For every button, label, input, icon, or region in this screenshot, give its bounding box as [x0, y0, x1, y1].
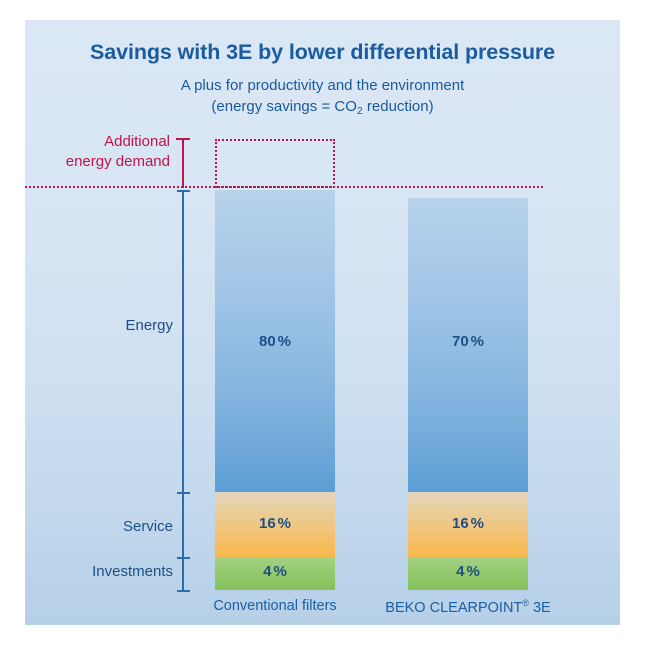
- additional-energy-demand-line2: energy demand: [66, 152, 170, 172]
- value-energy-right: 70: [452, 333, 469, 350]
- axis-label-energy: Energy: [125, 317, 173, 334]
- axis-tick-top: [177, 190, 190, 192]
- value-service-right: 16: [452, 515, 469, 532]
- plot-area: Additional energy demand Energy Service …: [25, 20, 620, 625]
- additional-energy-demand-box: [215, 139, 335, 188]
- percent-sign: %: [467, 563, 480, 580]
- value-label-energy-right: 70%: [408, 333, 528, 350]
- value-label-investments-right: 4%: [408, 563, 528, 580]
- percent-sign: %: [278, 515, 291, 532]
- value-energy-left: 80: [259, 333, 276, 350]
- x-axis-label-conventional-filters: Conventional filters: [185, 598, 365, 614]
- vertical-axis-line: [182, 190, 184, 590]
- value-service-left: 16: [259, 515, 276, 532]
- percent-sign: %: [274, 563, 287, 580]
- value-investments-right: 4: [456, 563, 464, 580]
- value-label-service-left: 16%: [215, 515, 335, 532]
- axis-label-service: Service: [123, 518, 173, 535]
- additional-energy-demand-label: Additional energy demand: [66, 132, 170, 172]
- additional-energy-reference-line: [25, 186, 543, 188]
- x-axis-label-beko-clearpoint-3e: BEKO CLEARPOINT® 3E: [370, 598, 566, 616]
- value-label-investments-left: 4%: [215, 563, 335, 580]
- percent-sign: %: [471, 333, 484, 350]
- axis-label-investments: Investments: [92, 563, 173, 580]
- axis-tick-energy-service: [177, 492, 190, 494]
- chart-root: Savings with 3E by lower differential pr…: [0, 0, 650, 650]
- percent-sign: %: [278, 333, 291, 350]
- x-label-right-post: 3E: [529, 600, 551, 616]
- axis-tick-bottom: [177, 590, 190, 592]
- x-label-right-pre: BEKO CLEARPOINT: [385, 600, 522, 616]
- registered-trademark-icon: ®: [522, 598, 529, 608]
- additional-energy-bracket: [182, 138, 184, 188]
- additional-energy-demand-line1: Additional: [66, 132, 170, 152]
- value-investments-left: 4: [263, 563, 271, 580]
- value-label-service-right: 16%: [408, 515, 528, 532]
- axis-tick-service-investments: [177, 557, 190, 559]
- percent-sign: %: [471, 515, 484, 532]
- value-label-energy-left: 80%: [215, 333, 335, 350]
- chart-panel: Savings with 3E by lower differential pr…: [25, 20, 620, 625]
